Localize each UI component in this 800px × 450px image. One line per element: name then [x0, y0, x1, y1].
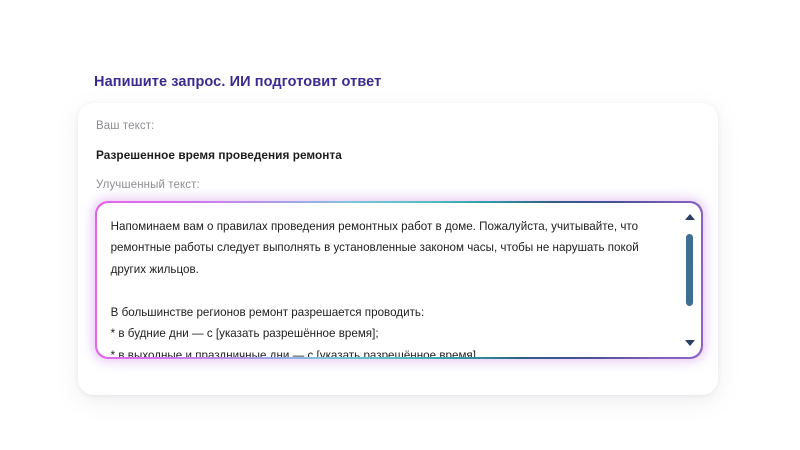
page-title-line-1: Напишите запрос. ИИ подготовит ответ [94, 72, 517, 93]
improved-text-box[interactable]: Напоминаем вам о правилах проведения рем… [95, 201, 703, 359]
improved-text-box-inner[interactable]: Напоминаем вам о правилах проведения рем… [97, 203, 702, 358]
prompt-result-card: Ваш текст: Разрешенное время проведения … [78, 103, 718, 395]
your-text-label: Ваш текст: [96, 120, 154, 132]
scrollbar-thumb[interactable] [686, 234, 693, 306]
scroll-down-icon[interactable] [685, 340, 695, 346]
paragraph-spacer [111, 280, 659, 302]
answer-bullet-2: * в выходные и праздничные дни — с [указ… [111, 345, 659, 358]
scrollbar-track[interactable] [682, 220, 697, 341]
answer-paragraph-1: Напоминаем вам о правилах проведения рем… [111, 216, 659, 281]
improved-text-content: Напоминаем вам о правилах проведения рем… [111, 216, 659, 358]
answer-paragraph-2: В большинстве регионов ремонт разрешаетс… [111, 302, 659, 324]
prompt-title: Разрешенное время проведения ремонта [96, 148, 342, 162]
answer-scrollbar[interactable] [682, 207, 697, 354]
answer-bullet-1: * в будние дни — с [указать разрешённое … [111, 323, 659, 345]
improved-text-label: Улучшенный текст: [96, 179, 200, 191]
